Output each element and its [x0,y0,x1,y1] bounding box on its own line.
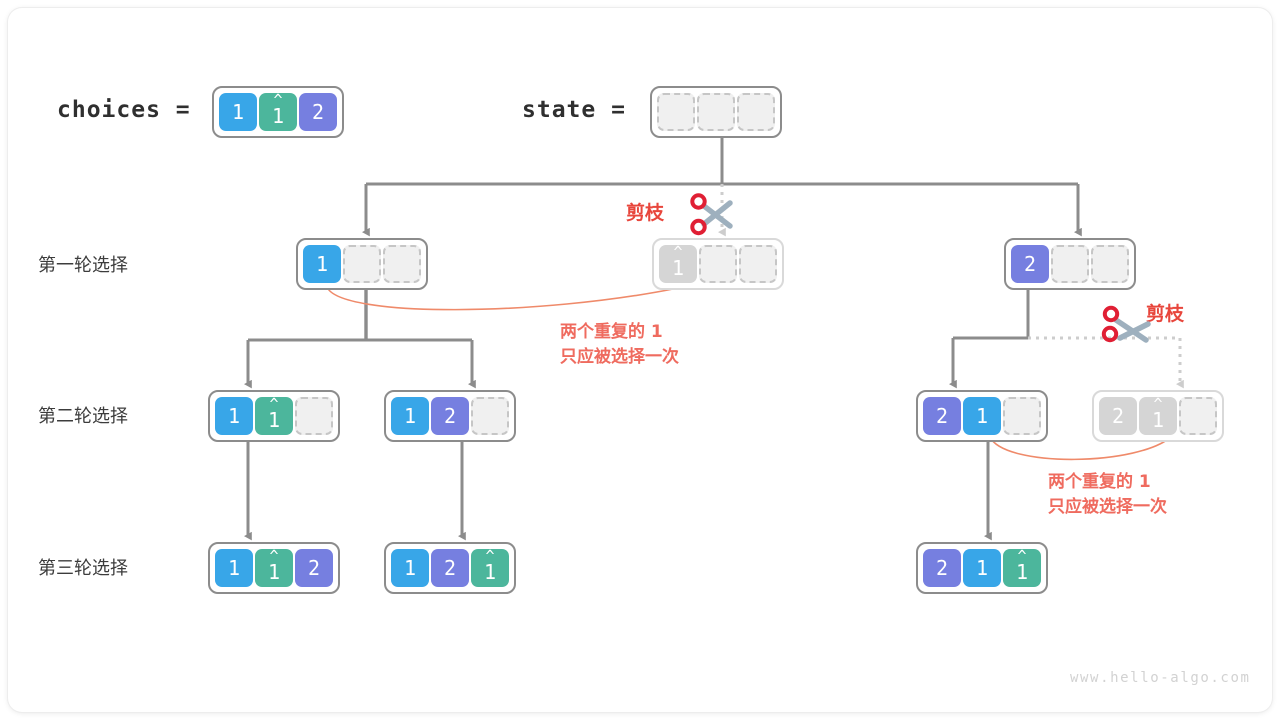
round2-2-cell-1: 1 [963,397,1001,435]
state-array [650,86,782,138]
note-duplicate-right-line2: 只应被选择一次 [1048,495,1167,520]
round1-1-cell-1 [699,245,737,283]
round2-1-cell-1-value: 2 [444,404,456,428]
round1-2-cell-0: 2 [1011,245,1049,283]
round3-2-cell-1-value: 1 [976,556,988,580]
round3-0-cell-1-hat-icon: ^ [255,550,293,562]
round1-2-cell-1 [1051,245,1089,283]
node-round2-a: 1^1 [208,390,340,442]
round1-1-cell-0-hat-icon: ^ [659,246,697,258]
round1-0-cell-0-value: 1 [316,252,328,276]
round1-0-cell-0: 1 [303,245,341,283]
note-duplicate-left: 两个重复的 1 只应被选择一次 [560,320,679,369]
round2-2-cell-0: 2 [923,397,961,435]
round1-1-cell-2 [739,245,777,283]
node-round3-b: 12^1 [384,542,516,594]
round3-0-cell-2-value: 2 [308,556,320,580]
round2-2-cell-0-value: 2 [936,404,948,428]
note-duplicate-right: 两个重复的 1 只应被选择一次 [1048,470,1167,519]
diagram-canvas: choices = state = 1^12 第一轮选择 第二轮选择 第三轮选择… [0,0,1280,720]
choices-array: 1^12 [212,86,344,138]
round3-2-cell-2: ^1 [1003,549,1041,587]
choices-label: choices = [57,97,191,123]
round1-1-cell-0: ^1 [659,245,697,283]
state-label: state = [522,97,626,123]
node-round2-c: 21 [916,390,1048,442]
round2-3-cell-2 [1179,397,1217,435]
node-round1-choice2: 2 [1004,238,1136,290]
round2-0-cell-2 [295,397,333,435]
round1-2-cell-2 [1091,245,1129,283]
round3-0-cell-0-value: 1 [228,556,240,580]
round2-1-cell-0: 1 [391,397,429,435]
note-duplicate-left-line2: 只应被选择一次 [560,345,679,370]
round2-0-cell-0: 1 [215,397,253,435]
node-round3-a: 1^12 [208,542,340,594]
note-duplicate-left-line1: 两个重复的 1 [560,320,679,345]
round2-0-cell-1: ^1 [255,397,293,435]
round3-0-cell-2: 2 [295,549,333,587]
choices-cell-0: 1 [219,93,257,131]
round2-3-cell-1: ^1 [1139,397,1177,435]
round2-3-cell-1-hat-icon: ^ [1139,398,1177,410]
round3-1-cell-2: ^1 [471,549,509,587]
round3-2-cell-0-value: 2 [936,556,948,580]
round2-1-cell-1: 2 [431,397,469,435]
watermark: www.hello-algo.com [1070,670,1251,686]
scissors-icon-right [1098,304,1158,350]
round2-1-cell-2 [471,397,509,435]
state-cell-1 [697,93,735,131]
node-round2-pruned: 2^1 [1092,390,1224,442]
round3-1-cell-1: 2 [431,549,469,587]
round3-1-cell-2-hat-icon: ^ [471,550,509,562]
round3-1-cell-1-value: 2 [444,556,456,580]
round3-1-cell-0-value: 1 [404,556,416,580]
round1-2-cell-0-value: 2 [1024,252,1036,276]
scissors-icon-top [684,192,744,236]
round1-0-cell-1 [343,245,381,283]
round2-3-cell-0: 2 [1099,397,1137,435]
round3-2-cell-2-hat-icon: ^ [1003,550,1041,562]
round2-0-cell-1-hat-icon: ^ [255,398,293,410]
round2-2-cell-2 [1003,397,1041,435]
node-round1-pruned: ^1 [652,238,784,290]
choices-cell-2-value: 2 [312,100,324,124]
round3-0-cell-0: 1 [215,549,253,587]
round3-2-cell-0: 2 [923,549,961,587]
choices-cell-1: ^1 [259,93,297,131]
round3-2-cell-1: 1 [963,549,1001,587]
prune-label-top: 剪枝 [626,198,664,225]
state-cell-0 [657,93,695,131]
round3-1-cell-0: 1 [391,549,429,587]
state-cell-2 [737,93,775,131]
row-label-round1: 第一轮选择 [38,251,128,277]
node-round1-choice1: 1 [296,238,428,290]
round2-2-cell-1-value: 1 [976,404,988,428]
round2-1-cell-0-value: 1 [404,404,416,428]
choices-cell-0-value: 1 [232,100,244,124]
round1-0-cell-2 [383,245,421,283]
round2-3-cell-0-value: 2 [1112,404,1124,428]
round2-0-cell-0-value: 1 [228,404,240,428]
node-round2-b: 12 [384,390,516,442]
row-label-round3: 第三轮选择 [38,554,128,580]
choices-cell-1-hat-icon: ^ [259,94,297,106]
choices-cell-2: 2 [299,93,337,131]
row-label-round2: 第二轮选择 [38,402,128,428]
round3-0-cell-1: ^1 [255,549,293,587]
node-round3-c: 21^1 [916,542,1048,594]
note-duplicate-right-line1: 两个重复的 1 [1048,470,1167,495]
